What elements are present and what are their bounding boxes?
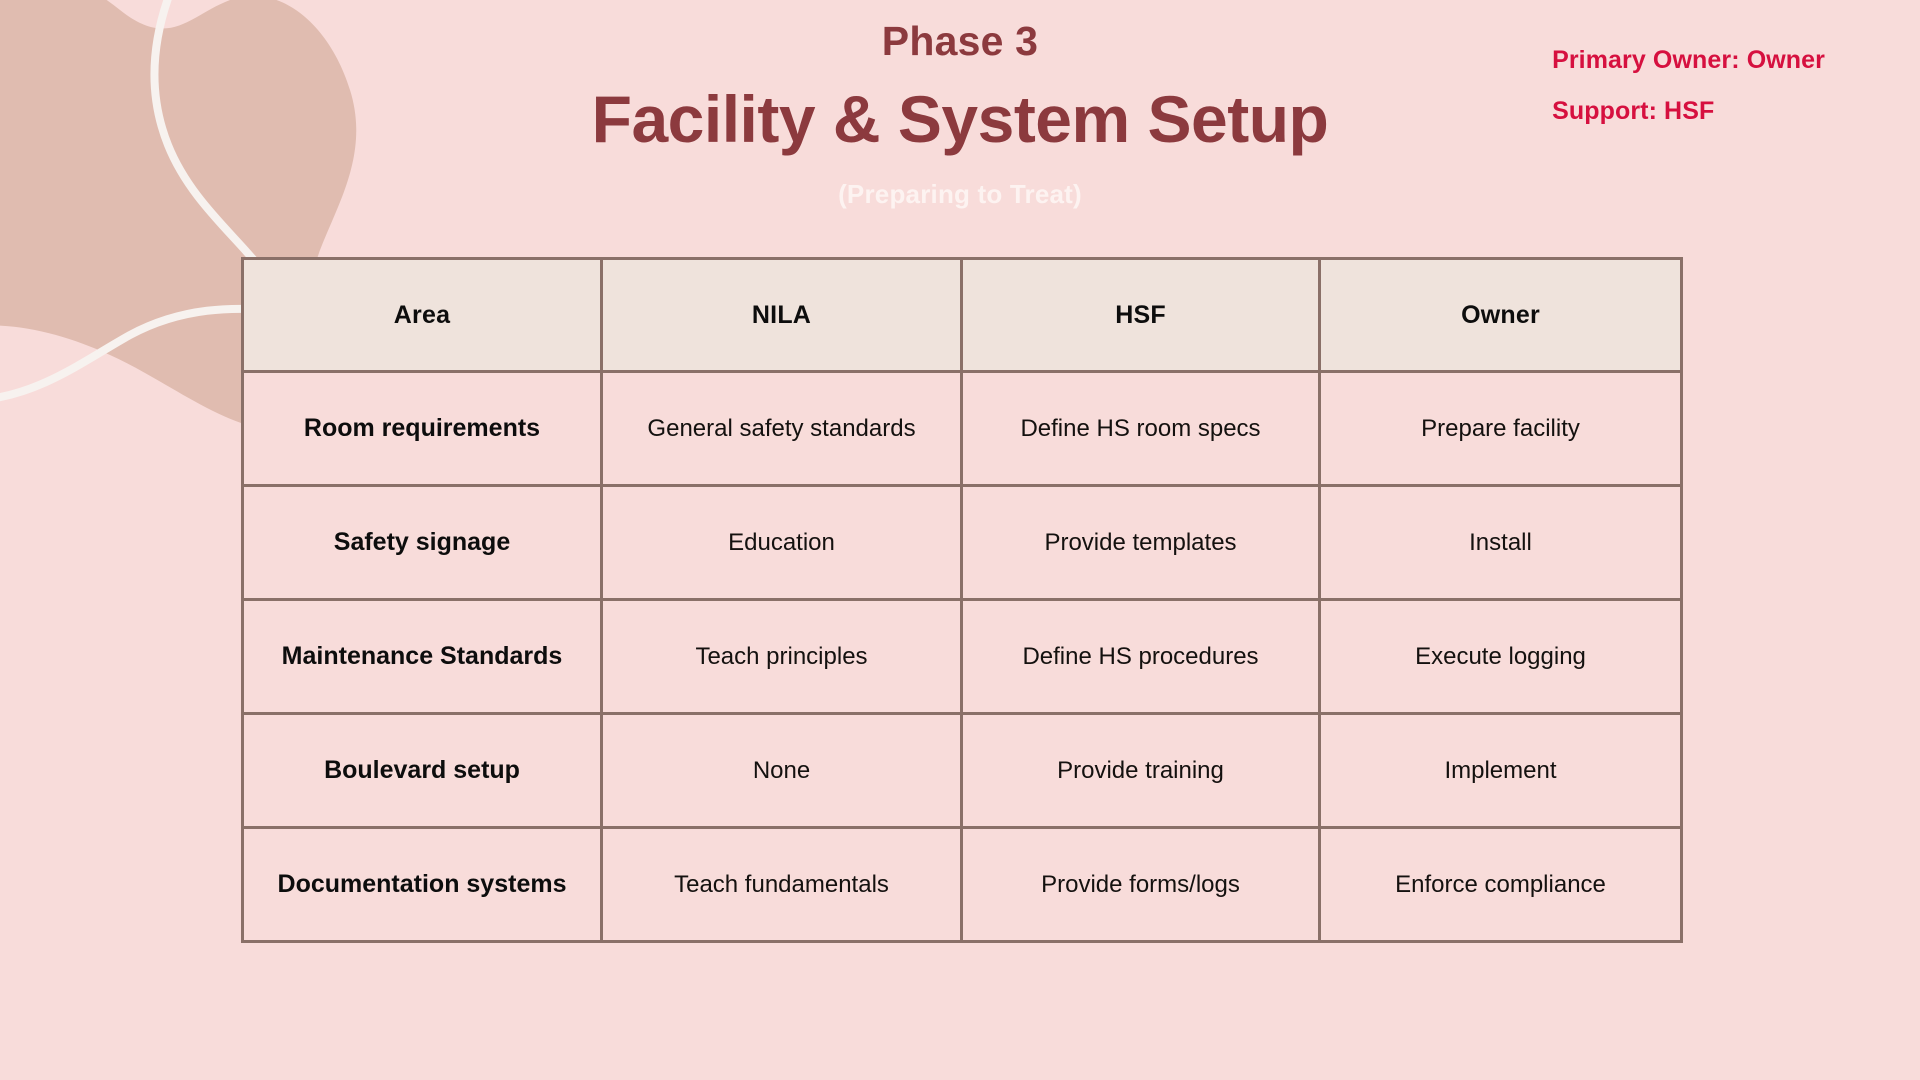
table-row: Safety signage Education Provide templat…: [243, 486, 1682, 600]
cell-owner: Prepare facility: [1320, 372, 1682, 486]
row-label: Boulevard setup: [243, 714, 602, 828]
row-label: Maintenance Standards: [243, 600, 602, 714]
table-row: Maintenance Standards Teach principles D…: [243, 600, 1682, 714]
row-label: Safety signage: [243, 486, 602, 600]
column-header-nila: NILA: [602, 259, 962, 372]
column-header-owner: Owner: [1320, 259, 1682, 372]
page-subtitle: (Preparing to Treat): [0, 179, 1920, 210]
cell-owner: Implement: [1320, 714, 1682, 828]
table-header-row: Area NILA HSF Owner: [243, 259, 1682, 372]
cell-hsf: Provide forms/logs: [962, 828, 1320, 942]
column-header-hsf: HSF: [962, 259, 1320, 372]
cell-hsf: Provide templates: [962, 486, 1320, 600]
cell-hsf: Define HS room specs: [962, 372, 1320, 486]
row-label: Room requirements: [243, 372, 602, 486]
ownership-callout: Primary Owner: Owner Support: HSF: [1552, 48, 1825, 124]
cell-nila: General safety standards: [602, 372, 962, 486]
table-row: Boulevard setup None Provide training Im…: [243, 714, 1682, 828]
cell-owner: Enforce compliance: [1320, 828, 1682, 942]
cell-nila: Education: [602, 486, 962, 600]
primary-owner-label: Primary Owner: Owner: [1552, 48, 1825, 73]
row-label: Documentation systems: [243, 828, 602, 942]
cell-nila: Teach fundamentals: [602, 828, 962, 942]
cell-hsf: Define HS procedures: [962, 600, 1320, 714]
cell-nila: None: [602, 714, 962, 828]
cell-owner: Install: [1320, 486, 1682, 600]
table-row: Documentation systems Teach fundamentals…: [243, 828, 1682, 942]
cell-owner: Execute logging: [1320, 600, 1682, 714]
cell-nila: Teach principles: [602, 600, 962, 714]
column-header-area: Area: [243, 259, 602, 372]
slide-canvas: Phase 3 Facility & System Setup (Prepari…: [0, 0, 1920, 1080]
responsibility-matrix-table: Area NILA HSF Owner Room requirements Ge…: [241, 257, 1683, 943]
support-label: Support: HSF: [1552, 99, 1825, 124]
table-row: Room requirements General safety standar…: [243, 372, 1682, 486]
cell-hsf: Provide training: [962, 714, 1320, 828]
